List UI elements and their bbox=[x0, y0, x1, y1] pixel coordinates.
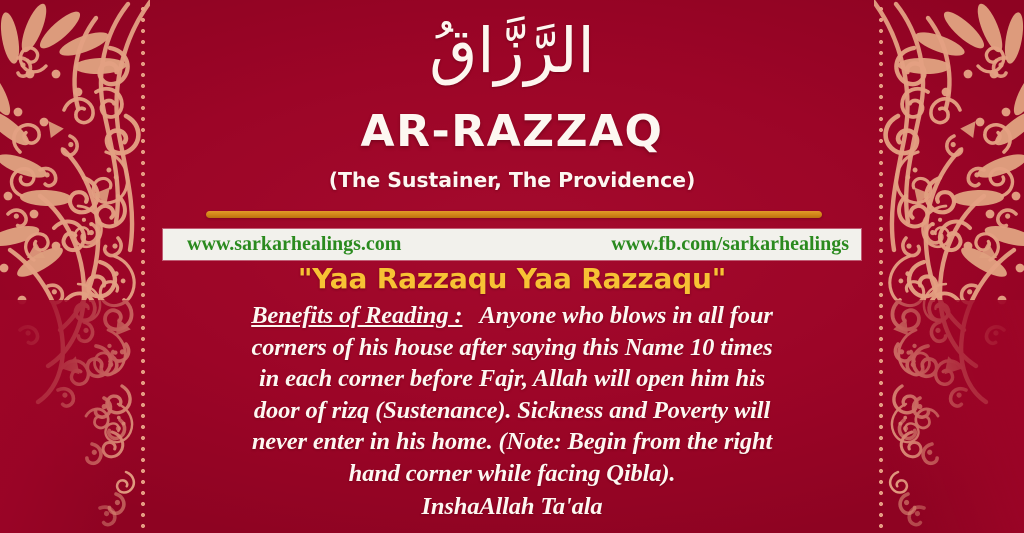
benefits-paragraph: Benefits of Reading : Anyone who blows i… bbox=[156, 300, 868, 523]
website-bar: www.sarkarhealings.com www.fb.com/sarkar… bbox=[163, 229, 861, 260]
gold-divider bbox=[206, 211, 822, 218]
benefits-line-1: corners of his house after saying this N… bbox=[156, 332, 868, 364]
benefits-line-4: never enter in his home. (Note: Begin fr… bbox=[156, 426, 868, 458]
name-meaning: (The Sustainer, The Providence) bbox=[150, 168, 874, 192]
benefits-closing: InshaAllah Ta'ala bbox=[156, 491, 868, 523]
arabic-calligraphy: الرَّزَّاقُ bbox=[150, 6, 874, 96]
poster-content: الرَّزَّاقُ AR-RAZZAQ (The Sustainer, Th… bbox=[150, 0, 874, 533]
benefits-line-3: door of rizq (Sustenance). Sickness and … bbox=[156, 395, 868, 427]
page-title: AR-RAZZAQ bbox=[150, 106, 874, 157]
benefits-label: Benefits of Reading : bbox=[251, 302, 462, 329]
ar-razzaq-poster: الرَّزَّاقُ AR-RAZZAQ (The Sustainer, Th… bbox=[0, 0, 1024, 533]
dotted-rule-left bbox=[139, 0, 147, 533]
website-link[interactable]: www.sarkarhealings.com bbox=[187, 233, 401, 256]
benefits-line-0: Anyone who blows in all four bbox=[479, 302, 772, 329]
benefits-line-5: hand corner while facing Qibla). bbox=[156, 458, 868, 490]
benefits-line-2: in each corner before Fajr, Allah will o… bbox=[156, 363, 868, 395]
paisley-ornament-left bbox=[0, 0, 150, 533]
paisley-ornament-right bbox=[874, 0, 1024, 533]
dhikr-phrase: "Yaa Razzaqu Yaa Razzaqu" bbox=[150, 262, 874, 295]
facebook-link[interactable]: www.fb.com/sarkarhealings bbox=[611, 233, 849, 256]
dotted-rule-right bbox=[877, 0, 885, 533]
